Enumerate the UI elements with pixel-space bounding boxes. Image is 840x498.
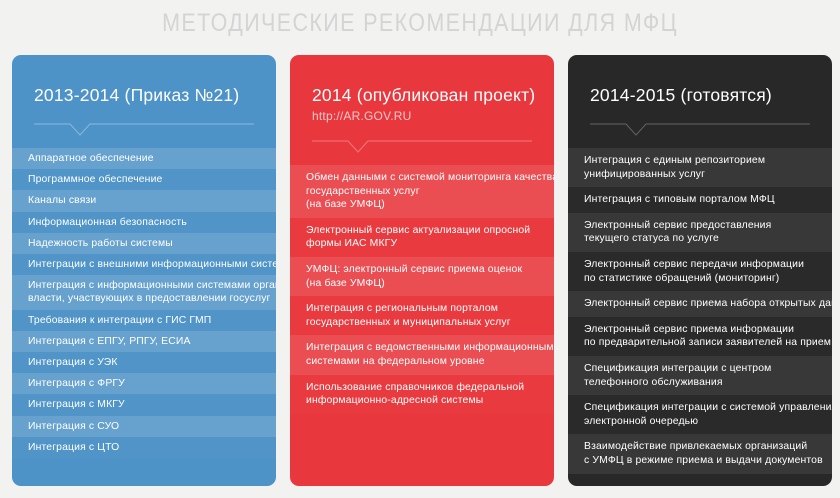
list-item: Интеграция с ФРГУ <box>12 373 276 394</box>
list-item-line: Интеграция с типовым порталом МФЦ <box>584 193 816 207</box>
list-item-line: по статистике обращений (мониторинг) <box>584 272 816 286</box>
list-item: Обмен данными с системой мониторинга кач… <box>290 165 554 218</box>
list-item-line: Надежность работы системы <box>28 237 260 250</box>
list-item-line: Взаимодействие привлекаемых организаций <box>584 440 816 454</box>
list-item-line: Использование справочников федеральной <box>306 381 538 395</box>
list-item-line: системами на федеральном уровне <box>306 355 538 369</box>
list-item-line: унифицированных услуг <box>584 168 816 182</box>
list-item: Интеграции с внешними информационными си… <box>12 254 276 275</box>
column-header-red: 2014 (опубликован проект) http://AR.GOV.… <box>290 55 554 154</box>
list-item: Интеграция с СУО <box>12 416 276 437</box>
column-2013-2014: 2013-2014 (Приказ №21) Аппаратное обеспе… <box>12 55 276 486</box>
header-divider-chevron-icon <box>312 140 532 154</box>
list-item-line: с УМФЦ в режиме приема и выдачи документ… <box>584 454 816 468</box>
list-item-line: Интеграция с ФРГУ <box>28 377 260 390</box>
list-item-line: государственных и муниципальных услуг <box>306 316 538 330</box>
list-item-line: Аппаратное обеспечение <box>28 152 260 165</box>
list-item: Спецификация интеграции с центромтелефон… <box>568 356 832 395</box>
list-item-line: Информационная безопасность <box>28 216 260 229</box>
list-item-line: Интеграция с ЦТО <box>28 441 260 454</box>
list-item-line: телефонного обслуживания <box>584 376 816 390</box>
page-title: Методические рекомендации для МФЦ <box>59 9 781 38</box>
list-item-line: Интеграция с единым репозиторием <box>584 154 816 168</box>
column-heading-red: 2014 (опубликован проект) <box>312 85 532 106</box>
column-heading-dark: 2014-2015 (готовятся) <box>590 85 810 106</box>
list-item-line: Интеграция с региональным порталом <box>306 302 538 316</box>
column-list-red: Обмен данными с системой мониторинга кач… <box>290 165 554 486</box>
list-item: Интеграция с МКГУ <box>12 394 276 415</box>
list-item-line: Интеграция с ЕПГУ, РПГУ, ЕСИА <box>28 335 260 348</box>
list-item: Программное обеспечение <box>12 169 276 190</box>
column-header-blue: 2013-2014 (Приказ №21) <box>12 55 276 137</box>
list-item: Интеграция с УЭК <box>12 352 276 373</box>
list-item-line: Спецификация интеграции с системой управ… <box>584 401 816 415</box>
list-item: Электронный сервис передачи информациипо… <box>568 252 832 291</box>
column-subtitle-red: http://AR.GOV.RU <box>312 109 532 123</box>
list-item-line: Интеграции с внешними информационными си… <box>28 258 260 271</box>
list-item-line: Интеграция с ведомственными информационн… <box>306 341 538 355</box>
header-divider-chevron-icon <box>34 123 254 137</box>
list-item-line: Электронный сервис предоставления <box>584 219 816 233</box>
list-item-line: власти, участвующих в предоставлении гос… <box>28 292 260 305</box>
list-item-line: Интеграция с МКГУ <box>28 398 260 411</box>
list-item: Электронный сервис приема набора открыты… <box>568 291 832 317</box>
list-item: Интеграция с ЦТО <box>12 437 276 458</box>
column-header-dark: 2014-2015 (готовятся) <box>568 55 832 137</box>
list-item-line: Электронный сервис актуализации опросной <box>306 224 538 238</box>
list-item: Каналы связи <box>12 190 276 211</box>
list-item-line: Интеграция с УЭК <box>28 356 260 369</box>
list-item: УМФЦ: электронный сервис приема оценок(н… <box>290 257 554 296</box>
list-item-line: Спецификация интеграции с центром <box>584 362 816 376</box>
list-item: Аппаратное обеспечение <box>12 148 276 169</box>
list-item-line: (на базе УМФЦ) <box>306 277 538 291</box>
list-item-line: Интеграция с СУО <box>28 420 260 433</box>
list-item: Интеграция с ЕПГУ, РПГУ, ЕСИА <box>12 331 276 352</box>
list-item-line: государственных услуг <box>306 185 538 199</box>
list-item-line: Интеграция с информационными системами о… <box>28 279 260 292</box>
list-item-line: формы ИАС МКГУ <box>306 237 538 251</box>
list-item: Электронный сервис актуализации опросной… <box>290 218 554 257</box>
list-item: Электронный сервис предоставлениятекущег… <box>568 213 832 252</box>
list-item: Интеграция с информационными системами о… <box>12 275 276 309</box>
list-item-line: электронной очередью <box>584 415 816 429</box>
timeline-columns: 2013-2014 (Приказ №21) Аппаратное обеспе… <box>12 55 832 486</box>
list-item: Информационная безопасность <box>12 212 276 233</box>
header-divider-chevron-icon <box>590 123 810 137</box>
list-item-line: информационно-адресной системы <box>306 394 538 408</box>
column-list-dark: Интеграция с единым репозиториемунифицир… <box>568 148 832 486</box>
list-item-line: Обмен данными с системой мониторинга кач… <box>306 171 538 185</box>
list-item-line: Электронный сервис приема набора открыты… <box>584 297 816 311</box>
list-item-line: текущего статуса по услуге <box>584 232 816 246</box>
list-item-line: (на базе УМФЦ) <box>306 198 538 212</box>
list-item: Электронный сервис приема информациипо п… <box>568 317 832 356</box>
list-item-line: УМФЦ: электронный сервис приема оценок <box>306 263 538 277</box>
list-item: Требования к интеграции с ГИС ГМП <box>12 310 276 331</box>
list-item: Надежность работы системы <box>12 233 276 254</box>
list-item-line: Программное обеспечение <box>28 173 260 186</box>
list-item-line: Требования к интеграции с ГИС ГМП <box>28 314 260 327</box>
column-2014: 2014 (опубликован проект) http://AR.GOV.… <box>290 55 554 486</box>
list-item: Интеграция с типовым порталом МФЦ <box>568 187 832 213</box>
list-item: Использование справочников федеральнойин… <box>290 375 554 414</box>
list-item: Интеграция с единым репозиториемунифицир… <box>568 148 832 187</box>
column-2014-2015: 2014-2015 (готовятся) Интеграция с едины… <box>568 55 832 486</box>
list-item: Взаимодействие привлекаемых организацийс… <box>568 434 832 473</box>
list-item: Интеграция с региональным порталомгосуда… <box>290 296 554 335</box>
list-item-line: по предварительной записи заявителей на … <box>584 336 816 350</box>
column-heading-blue: 2013-2014 (Приказ №21) <box>34 85 254 106</box>
list-item: Интеграция с ведомственными информационн… <box>290 335 554 374</box>
list-item: Спецификация интеграции с системой управ… <box>568 395 832 434</box>
list-item-line: Электронный сервис передачи информации <box>584 258 816 272</box>
list-item-line: Электронный сервис приема информации <box>584 323 816 337</box>
list-item-line: Каналы связи <box>28 194 260 207</box>
column-list-blue: Аппаратное обеспечениеПрограммное обеспе… <box>12 148 276 486</box>
